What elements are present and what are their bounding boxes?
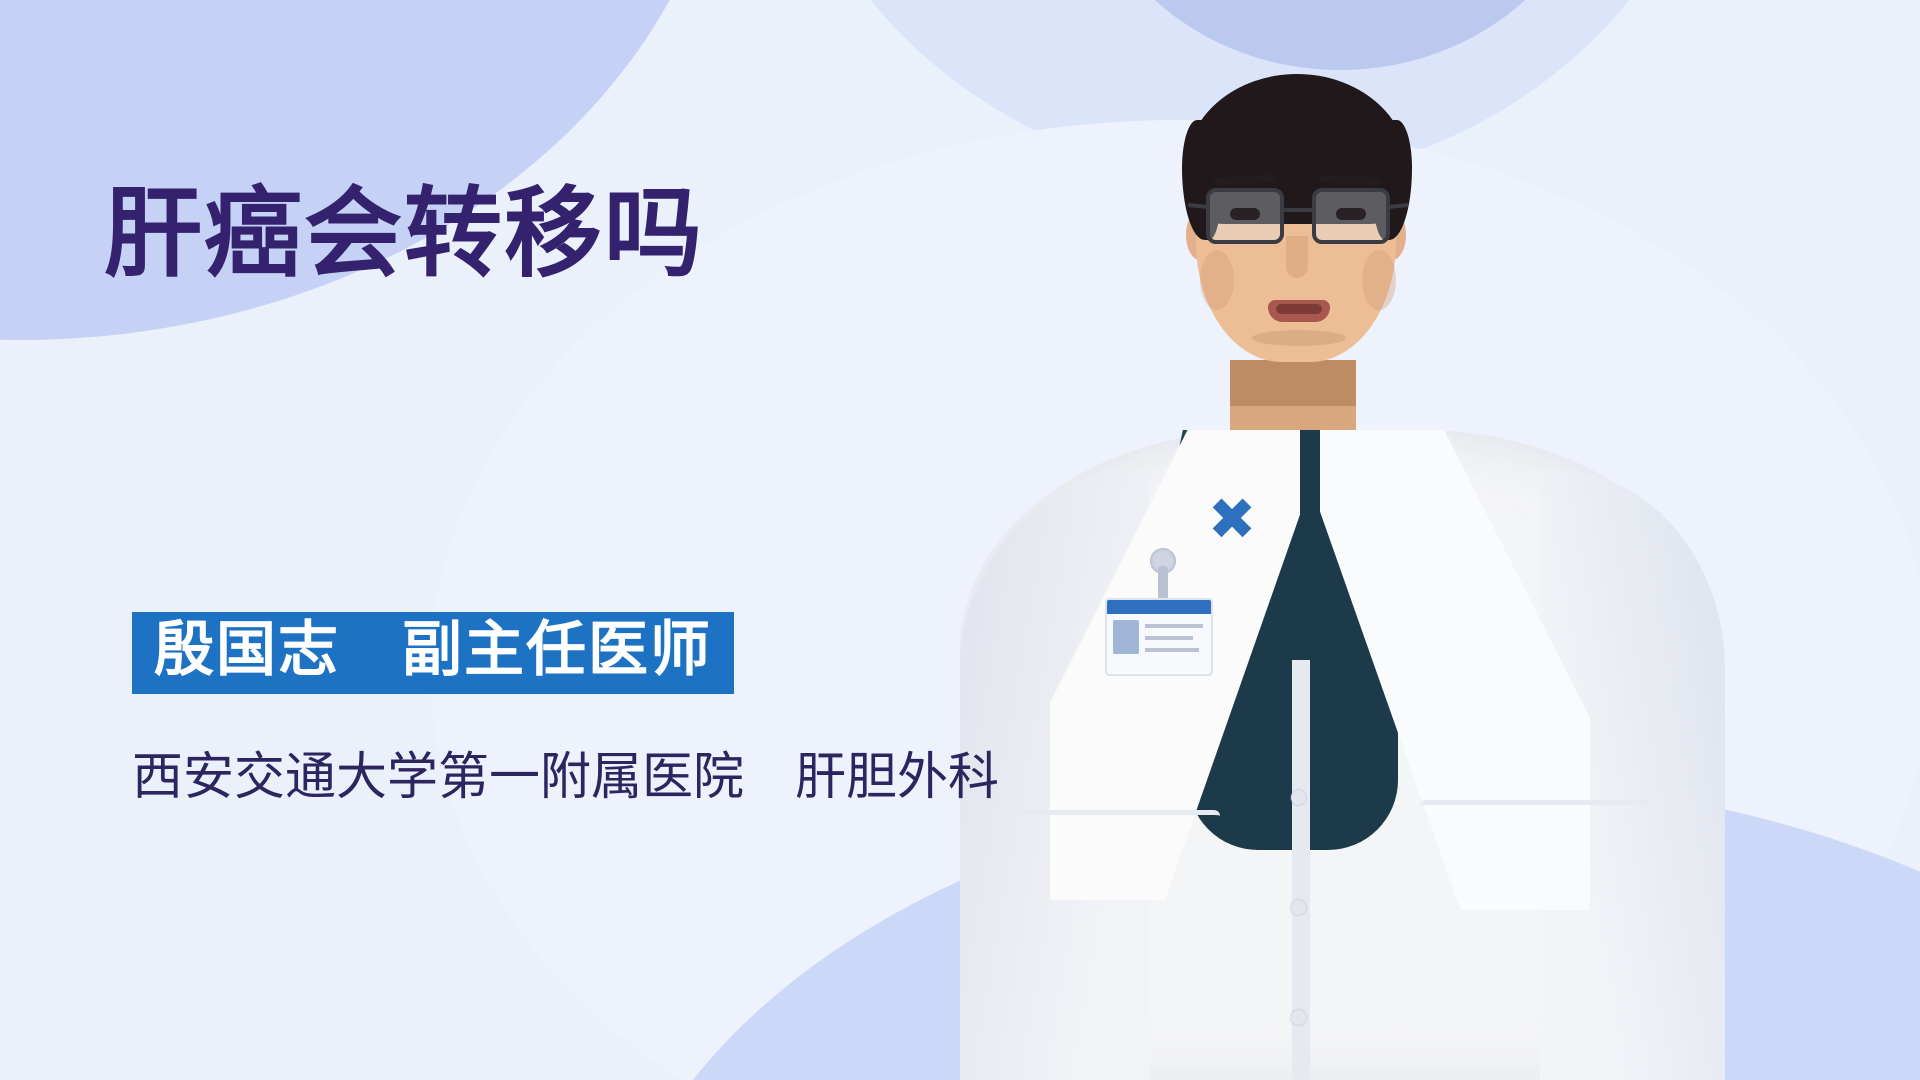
text-overlay: 肝癌会转移吗 殷国志 副主任医师 西安交通大学第一附属医院 肝胆外科 <box>0 0 1030 1080</box>
eye-left <box>1230 208 1260 220</box>
eye-right <box>1336 208 1366 220</box>
cheek-shadow-right <box>1362 250 1396 310</box>
doctor-portrait: ✖ <box>900 0 1920 1080</box>
doctor-name-badge: 殷国志 副主任医师 <box>132 612 734 694</box>
eyeglasses-bridge <box>1284 208 1312 212</box>
chin-shadow <box>1252 330 1346 346</box>
coat-button <box>1291 1010 1306 1025</box>
hospital-logo-icon: ✖ <box>1200 488 1264 550</box>
id-badge-line <box>1145 636 1193 640</box>
coat-button <box>1291 900 1306 915</box>
id-badge-photo <box>1113 620 1139 654</box>
id-badge-line <box>1145 648 1199 652</box>
neck-shadow <box>1230 360 1356 406</box>
coat-button <box>1291 790 1306 805</box>
staff-id-badge <box>1105 598 1213 676</box>
coat-pocket-right <box>1420 800 1650 950</box>
mouth-interior <box>1276 304 1322 314</box>
affiliation-line: 西安交通大学第一附属医院 肝胆外科 <box>132 752 999 803</box>
cheek-shadow-left <box>1200 250 1234 310</box>
id-badge-line <box>1145 624 1203 628</box>
page-title: 肝癌会转移吗 <box>104 182 704 288</box>
coat-pocket-left <box>1020 810 1220 960</box>
nose <box>1286 236 1308 278</box>
thumbnail-canvas: ✖ 肝癌会转移吗 殷国志 副主任医师 <box>0 0 1920 1080</box>
pen-body <box>1158 566 1168 600</box>
id-badge-header <box>1107 600 1211 614</box>
